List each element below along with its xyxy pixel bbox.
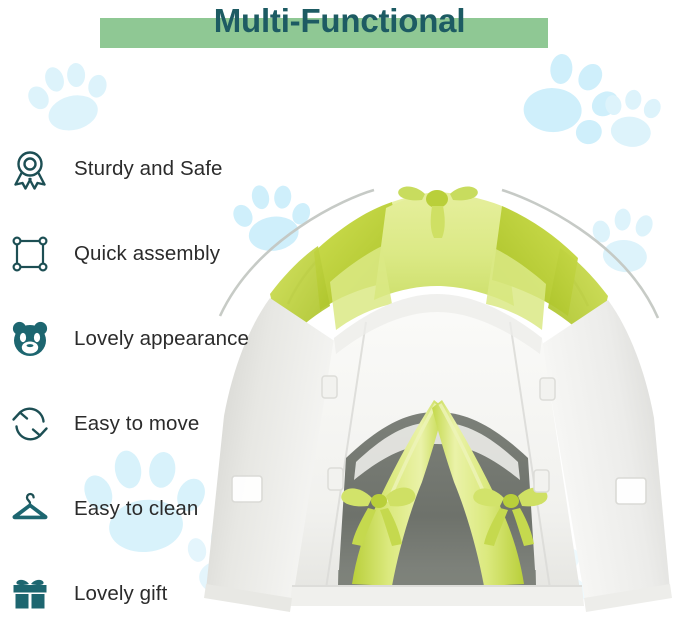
paw-print-icon <box>508 42 636 169</box>
feature-label: Sturdy and Safe <box>74 157 223 181</box>
feature-label: Easy to clean <box>74 497 198 521</box>
feature-item: Easy to move <box>0 381 300 466</box>
clothes-hanger-icon <box>8 487 52 531</box>
bear-face-icon <box>8 317 52 361</box>
feature-label: Lovely appearance <box>74 327 249 351</box>
feature-label: Quick assembly <box>74 242 220 266</box>
feature-label: Easy to move <box>74 412 199 436</box>
feature-list: Sturdy and Safe Quick assembly <box>0 126 300 619</box>
paw-print-icon <box>593 83 672 163</box>
frame-nodes-icon <box>8 232 52 276</box>
refresh-arrows-icon <box>8 402 52 446</box>
feature-item: Lovely appearance <box>0 296 300 381</box>
feature-item: Quick assembly <box>0 211 300 296</box>
award-ribbon-icon <box>8 147 52 191</box>
page-title: Multi-Functional <box>0 0 679 42</box>
feature-label: Lovely gift <box>74 582 167 606</box>
infographic-canvas: Multi-Functional Sturdy and Safe <box>0 0 679 619</box>
gift-box-icon <box>8 572 52 616</box>
feature-item: Sturdy and Safe <box>0 126 300 211</box>
feature-item: Easy to clean <box>0 466 300 551</box>
feature-item: Lovely gift <box>0 551 300 619</box>
